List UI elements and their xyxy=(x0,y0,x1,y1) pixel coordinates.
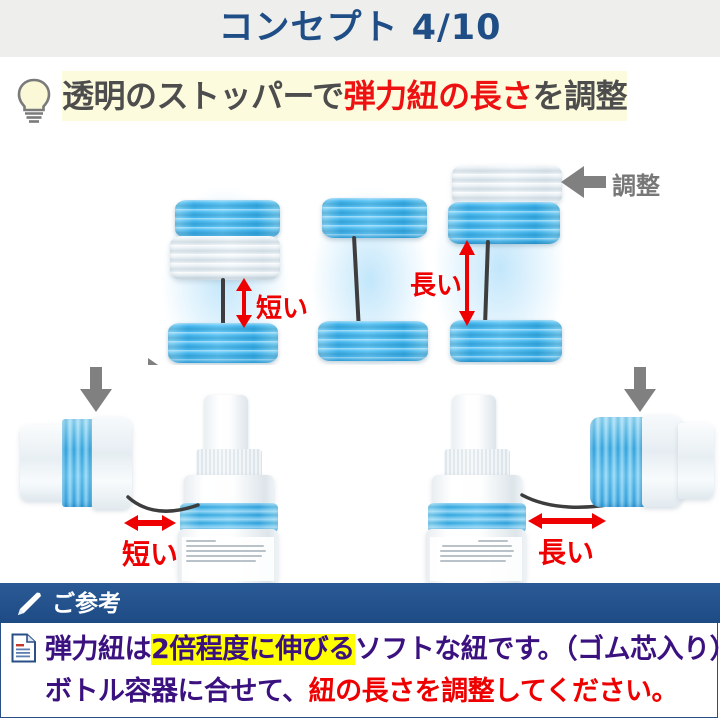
reference-line-1: 弾力紐は2倍程度に伸びるソフトな紐です。（ゴム芯入り） xyxy=(45,627,720,666)
lower-photo-panel: 短い 長い xyxy=(0,365,720,583)
cap-a-clear-stopper xyxy=(170,236,280,280)
measure-long-label-c: 長い xyxy=(410,265,462,302)
cap-c-top-blue xyxy=(448,202,560,244)
subtitle-part-red: 弾力紐の長さ xyxy=(344,77,533,115)
reference-line-1-part-a: 弾力紐は xyxy=(45,634,151,665)
reference-line-2-red: 紐の長さを調整してください。 xyxy=(309,676,678,707)
measure-long-label-lower: 長い xyxy=(538,531,594,571)
left-bottle-label xyxy=(182,537,274,581)
reference-line-2: ボトル容器に合せて、紐の長さを調整してください。 xyxy=(45,669,678,708)
cord-c xyxy=(483,240,490,324)
cap-b-bottom-blue xyxy=(318,321,428,361)
reference-bar-label: ご参考 xyxy=(52,586,121,622)
left-cap-clear-cup xyxy=(20,425,66,501)
upper-photo-panel: 調整 短い xyxy=(0,140,720,365)
reference-line-1-highlight: 2倍程度に伸びる xyxy=(151,634,355,665)
cap-a-top-blue xyxy=(175,200,280,238)
lightbulb-icon xyxy=(14,76,54,126)
reference-line-1-part-b: ソフトな紐です。（ゴム芯入り） xyxy=(355,634,720,665)
measure-short-label-lower: 短い xyxy=(122,533,178,573)
reference-bar: ご参考 xyxy=(0,583,720,623)
subtitle-part-plain-2: を調整 xyxy=(533,77,628,115)
infographic-page: コンセプト 4/10 透明のストッパーで弾力紐の長さを調整 調整 xyxy=(0,0,720,720)
arrow-down-icon-right xyxy=(622,367,658,416)
right-cap-clear-stopper xyxy=(642,415,682,507)
document-icon xyxy=(11,633,37,663)
cord-a xyxy=(221,278,225,326)
cap-c-clear-stopper xyxy=(452,165,562,205)
reference-line-2-part-a: ボトル容器に合せて、 xyxy=(45,676,309,707)
left-cap-blue-ring xyxy=(62,419,94,507)
upper-right-adjust-label: 調整 xyxy=(612,166,660,201)
right-cap-clear-cup xyxy=(678,423,714,499)
pencil-icon xyxy=(16,592,42,616)
arrow-left-icon xyxy=(560,164,606,203)
cord-b xyxy=(352,236,361,324)
subtitle-row: 透明のストッパーで弾力紐の長さを調整 xyxy=(0,72,720,128)
page-title: コンセプト 4/10 xyxy=(0,4,720,52)
reference-text-box: 弾力紐は2倍程度に伸びるソフトな紐です。（ゴム芯入り） ボトル容器に合せて、紐の… xyxy=(0,623,718,718)
cap-a-bottom-blue xyxy=(168,323,278,363)
arrow-down-icon-left xyxy=(78,367,114,416)
right-bottle-label xyxy=(430,537,522,581)
subtitle-part-plain-1: 透明のストッパーで xyxy=(62,77,344,115)
measure-short-label-a: 短い xyxy=(256,288,308,325)
right-cap-blue-ring xyxy=(590,417,646,507)
subtitle-text: 透明のストッパーで弾力紐の長さを調整 xyxy=(62,71,627,121)
cap-b-top-blue xyxy=(322,198,427,238)
measure-short-arrow-a xyxy=(234,278,254,332)
